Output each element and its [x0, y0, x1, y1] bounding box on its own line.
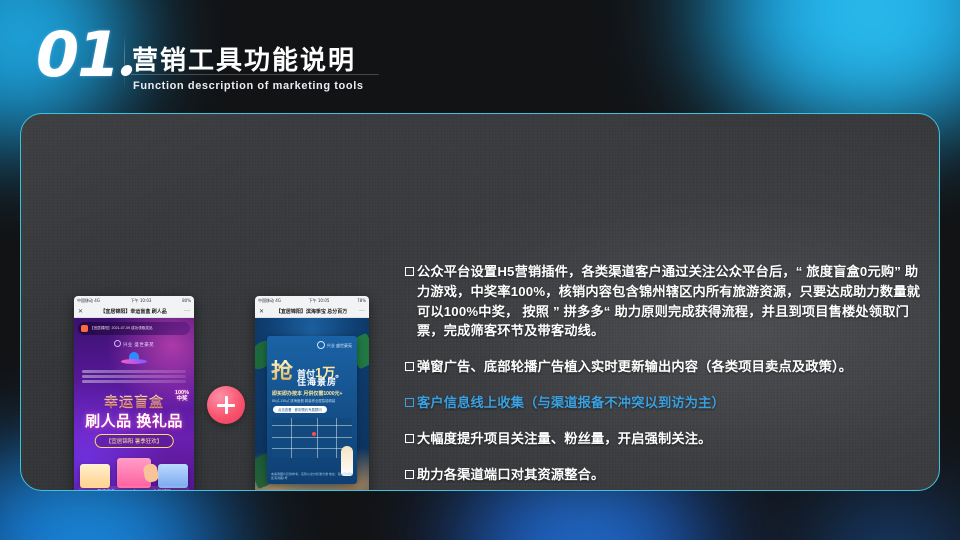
phone-left-status-right: 80% — [182, 298, 191, 303]
map-pin-icon — [312, 432, 316, 436]
bullet-square-icon — [405, 434, 414, 443]
section-number-text: 01 — [36, 18, 118, 91]
content-panel: 中国移动 4G 下午 10:03 80% ✕ 【宜居锦阳】幸运盲盒 刷人品 ··… — [20, 113, 940, 491]
phone-left-win-badge: 100% 中奖 — [175, 390, 189, 403]
bullet-square-icon — [405, 398, 414, 407]
phone-left-status-left: 中国移动 4G — [77, 298, 100, 304]
bullet-popup-ads: 弹窗广告、底部轮播广告植入实时更新输出内容（各类项目卖点及政策）。 — [405, 357, 925, 377]
phone-left-nav-title: 【宜居锦阳】幸运盲盒 刷人品 — [83, 308, 184, 315]
bullet-followers: 大幅度提升项目关注量、粉丝量，开启强制关注。 — [405, 429, 925, 449]
bullet-h5-plugin-text: 公众平台设置H5营销插件，各类渠道客户通过关注公众平台后，“ 旅度盲盒0元购” … — [417, 262, 925, 341]
phone-right-status-left: 中国移动 4G — [258, 298, 281, 304]
phone-left-headline-2: 刷人品 换礼品 — [74, 410, 194, 431]
bullet-channel-resources: 助力各渠道端口对其资源整合。 — [405, 465, 925, 485]
bullet-h5-plugin: 公众平台设置H5营销插件，各类渠道客户通过关注公众平台后，“ 旅度盲盒0元购” … — [405, 262, 925, 341]
bg-glow-bottom-right — [760, 500, 960, 540]
phone-right-navbar: ✕ 【宜居锦阳】滨海季宝 总分百万 ··· — [255, 305, 369, 318]
section-number: 01 — [36, 24, 132, 86]
phone-right-status-right: 78% — [357, 298, 366, 303]
phone-left-tabbar[interactable]: 我的盲盒 人气排行 — [79, 486, 189, 491]
bullet-customer-info: 客户信息线上收集（与渠道报备不冲突以到访为主） — [405, 393, 925, 413]
bullet-square-icon — [405, 362, 414, 371]
bullet-square-icon — [405, 267, 414, 276]
phone-left-tab-mybox[interactable]: 我的盲盒 — [79, 489, 134, 491]
bullet-list: 公众平台设置H5营销插件，各类渠道客户通过关注公众平台后，“ 旅度盲盒0元购” … — [405, 262, 925, 491]
phone-right-disclaimer: 本案例图片仅供参考，实际以交付标准为准 地址：锦州滨海新区海滨路1号 — [271, 472, 353, 480]
phone-right-statusbar: 中国移动 4G 下午 10:05 78% — [255, 296, 369, 305]
plus-icon — [207, 386, 245, 424]
phone-right-screen: 兴业 盛世豪苑 抢 首付1万。 住海景房 即买即办按本 月供仅需1000元+ 8… — [255, 318, 369, 491]
phone-left-banner-text: 【宜居锦阳】2021-07-09 成功领取奖品 — [90, 326, 153, 331]
phone-right-brand: 兴业 盛世豪苑 — [317, 341, 352, 349]
phone-left-status-center: 下午 10:03 — [131, 298, 152, 304]
brand-logo-icon — [317, 341, 325, 349]
phone-mockup-seaview: 中国移动 4G 下午 10:05 78% ✕ 【宜居锦阳】滨海季宝 总分百万 ·… — [255, 296, 369, 491]
gift-box-icon[interactable] — [80, 464, 110, 488]
more-icon[interactable]: ··· — [359, 308, 365, 314]
slide-root: 01 营销工具功能说明 Function description of mark… — [0, 0, 960, 540]
phone-right-poster-card: 兴业 盛世豪苑 抢 首付1万。 住海景房 即买即办按本 月供仅需1000元+ 8… — [267, 336, 357, 484]
phone-left-brand: 兴业 盛世豪苑 — [74, 340, 194, 348]
phone-left-campaign-pill: 【宜居锦阳 暑季狂欢】 — [95, 434, 174, 448]
header-divider — [124, 34, 125, 90]
bullet-square-icon — [405, 470, 414, 479]
ufo-illustration-icon — [121, 352, 147, 368]
more-icon[interactable]: ··· — [184, 308, 190, 314]
phone-left-tab-ranking[interactable]: 人气排行 — [135, 489, 190, 491]
gift-box-icon[interactable] — [158, 464, 188, 488]
brand-logo-icon — [114, 340, 121, 347]
phone-right-location-map — [272, 418, 352, 458]
phone-left-brand-text: 兴业 盛世豪苑 — [123, 342, 154, 347]
phone-right-brand-text: 兴业 盛世豪苑 — [327, 343, 352, 348]
phone-right-headline-2: 住海景房 — [297, 375, 337, 388]
phone-right-sub-2: 85㎡-135㎡ 滨海度假 精装修全屋智能精装 — [272, 398, 352, 403]
phone-left-win-label: 中奖 — [175, 396, 189, 402]
title-underline — [131, 74, 379, 75]
phone-right-inline-button[interactable]: 点击查看 · 即刻预约专属顾问 — [273, 406, 327, 413]
phone-right-sub-1: 即买即办按本 月供仅需1000元+ — [272, 390, 352, 397]
phone-mockup-blindbox: 中国移动 4G 下午 10:03 80% ✕ 【宜居锦阳】幸运盲盒 刷人品 ··… — [74, 296, 194, 491]
bullet-popup-ads-text: 弹窗广告、底部轮播广告植入实时更新输出内容（各类项目卖点及政策）。 — [417, 357, 925, 377]
phone-left-screen: 【宜居锦阳】2021-07-09 成功领取奖品 兴业 盛世豪苑 幸运盲盒 100… — [74, 318, 194, 491]
page-subtitle: Function description of marketing tools — [133, 80, 364, 92]
phone-right-qiang-char: 抢 — [271, 360, 293, 382]
bullet-followers-text: 大幅度提升项目关注量、粉丝量，开启强制关注。 — [417, 429, 925, 449]
slide-header: 01 营销工具功能说明 Function description of mark… — [0, 0, 960, 115]
light-beam-decoration — [82, 370, 186, 385]
page-title: 营销工具功能说明 — [132, 40, 356, 77]
phone-left-statusbar: 中国移动 4G 下午 10:03 80% — [74, 296, 194, 305]
phone-left-gift-row — [80, 458, 188, 488]
phone-right-status-center: 下午 10:05 — [309, 298, 330, 304]
phone-left-navbar: ✕ 【宜居锦阳】幸运盲盒 刷人品 ··· — [74, 305, 194, 318]
phone-left-winner-banner: 【宜居锦阳】2021-07-09 成功领取奖品 — [78, 322, 190, 335]
bullet-customer-info-text: 客户信息线上收集（与渠道报备不冲突以到访为主） — [417, 393, 925, 413]
phone-right-nav-title: 【宜居锦阳】滨海季宝 总分百万 — [264, 308, 359, 315]
bullet-channel-resources-text: 助力各渠道端口对其资源整合。 — [417, 465, 925, 485]
avatar — [81, 325, 88, 332]
